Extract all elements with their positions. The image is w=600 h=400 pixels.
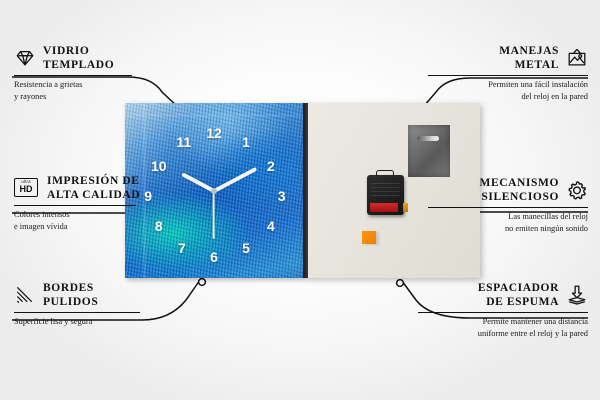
feature-title: MANEJAS METAL [499,44,559,72]
feature-rule [14,75,132,76]
product-photo: 12 1 2 3 4 5 6 7 8 9 10 11 [125,103,480,278]
feature-title: VIDRIO TEMPLADO [43,44,114,72]
feature-rule [428,207,588,208]
feature-vidrio-templado: VIDRIO TEMPLADO Resistencia a grietas y … [14,44,148,102]
feature-title: BORDES PULIDOS [43,281,98,309]
feature-description: Resistencia a grietas y rayones [14,79,148,102]
feature-description: Las manecillas del reloj no emiten ningú… [428,211,588,234]
feature-manejas-metal: MANEJAS METAL Permiten una fácil instala… [428,44,588,102]
clock-numeral-7: 7 [178,241,186,255]
feature-rule [418,312,588,313]
clock-numeral-11: 11 [176,135,191,149]
clock-center-hub [211,188,217,194]
mechanism-ribs [371,183,400,196]
feature-bordes-pulidos: BORDES PULIDOS Superficie lisa y segura [14,281,154,328]
picture-frame-icon [566,47,588,69]
gear-icon [566,179,588,201]
feature-rule [14,205,136,206]
feature-title: MECANISMO SILENCIOSO [479,176,559,204]
clock-numeral-10: 10 [151,159,167,173]
clock-numeral-5: 5 [242,241,250,255]
node-espaciador [397,280,404,287]
diamond-icon [14,47,36,69]
hanger-slot [417,136,439,141]
foam-spacer [362,231,376,244]
battery [370,203,398,212]
arrow-down-stack-icon [566,284,588,306]
feature-rule [14,312,140,313]
feature-espaciador-de-espuma: ESPACIADOR DE ESPUMA Permite mantener un… [418,281,588,339]
clock-numeral-1: 1 [242,135,250,149]
panel-edge [303,103,308,278]
feature-description: Permiten una fácil instalación del reloj… [428,79,588,102]
feature-description: Permite mantener una distancia uniforme … [418,316,588,339]
hatched-edge-icon [14,284,36,306]
clock-numeral-3: 3 [278,189,286,203]
feature-description: Colores intensos e imagen vívida [14,209,154,232]
clock-numeral-12: 12 [206,126,222,140]
ultra-hd-icon: ultra HD [14,178,40,199]
clock-numeral-4: 4 [267,219,275,233]
metal-hanger [408,125,450,177]
ultra-hd-bottom-label: HD [20,185,33,194]
feature-impresion-alta-calidad: ultra HD IMPRESIÓN DE ALTA CALIDAD Color… [14,174,154,232]
quartz-mechanism [367,175,404,215]
mechanism-tab [376,170,394,176]
clock-numeral-2: 2 [267,159,275,173]
battery-tip [403,203,408,212]
feature-title: ESPACIADOR DE ESPUMA [478,281,559,309]
feature-description: Superficie lisa y segura [14,316,154,327]
clock-numeral-6: 6 [210,250,218,264]
feature-rule [428,75,588,76]
infographic-stage: 12 1 2 3 4 5 6 7 8 9 10 11 [0,0,600,400]
clock-numeral-8: 8 [155,219,163,233]
feature-title: IMPRESIÓN DE ALTA CALIDAD [47,174,140,202]
feature-mecanismo-silencioso: MECANISMO SILENCIOSO Las manecillas del … [428,176,588,234]
node-bordes [199,279,206,286]
clock-second-hand [213,191,215,239]
